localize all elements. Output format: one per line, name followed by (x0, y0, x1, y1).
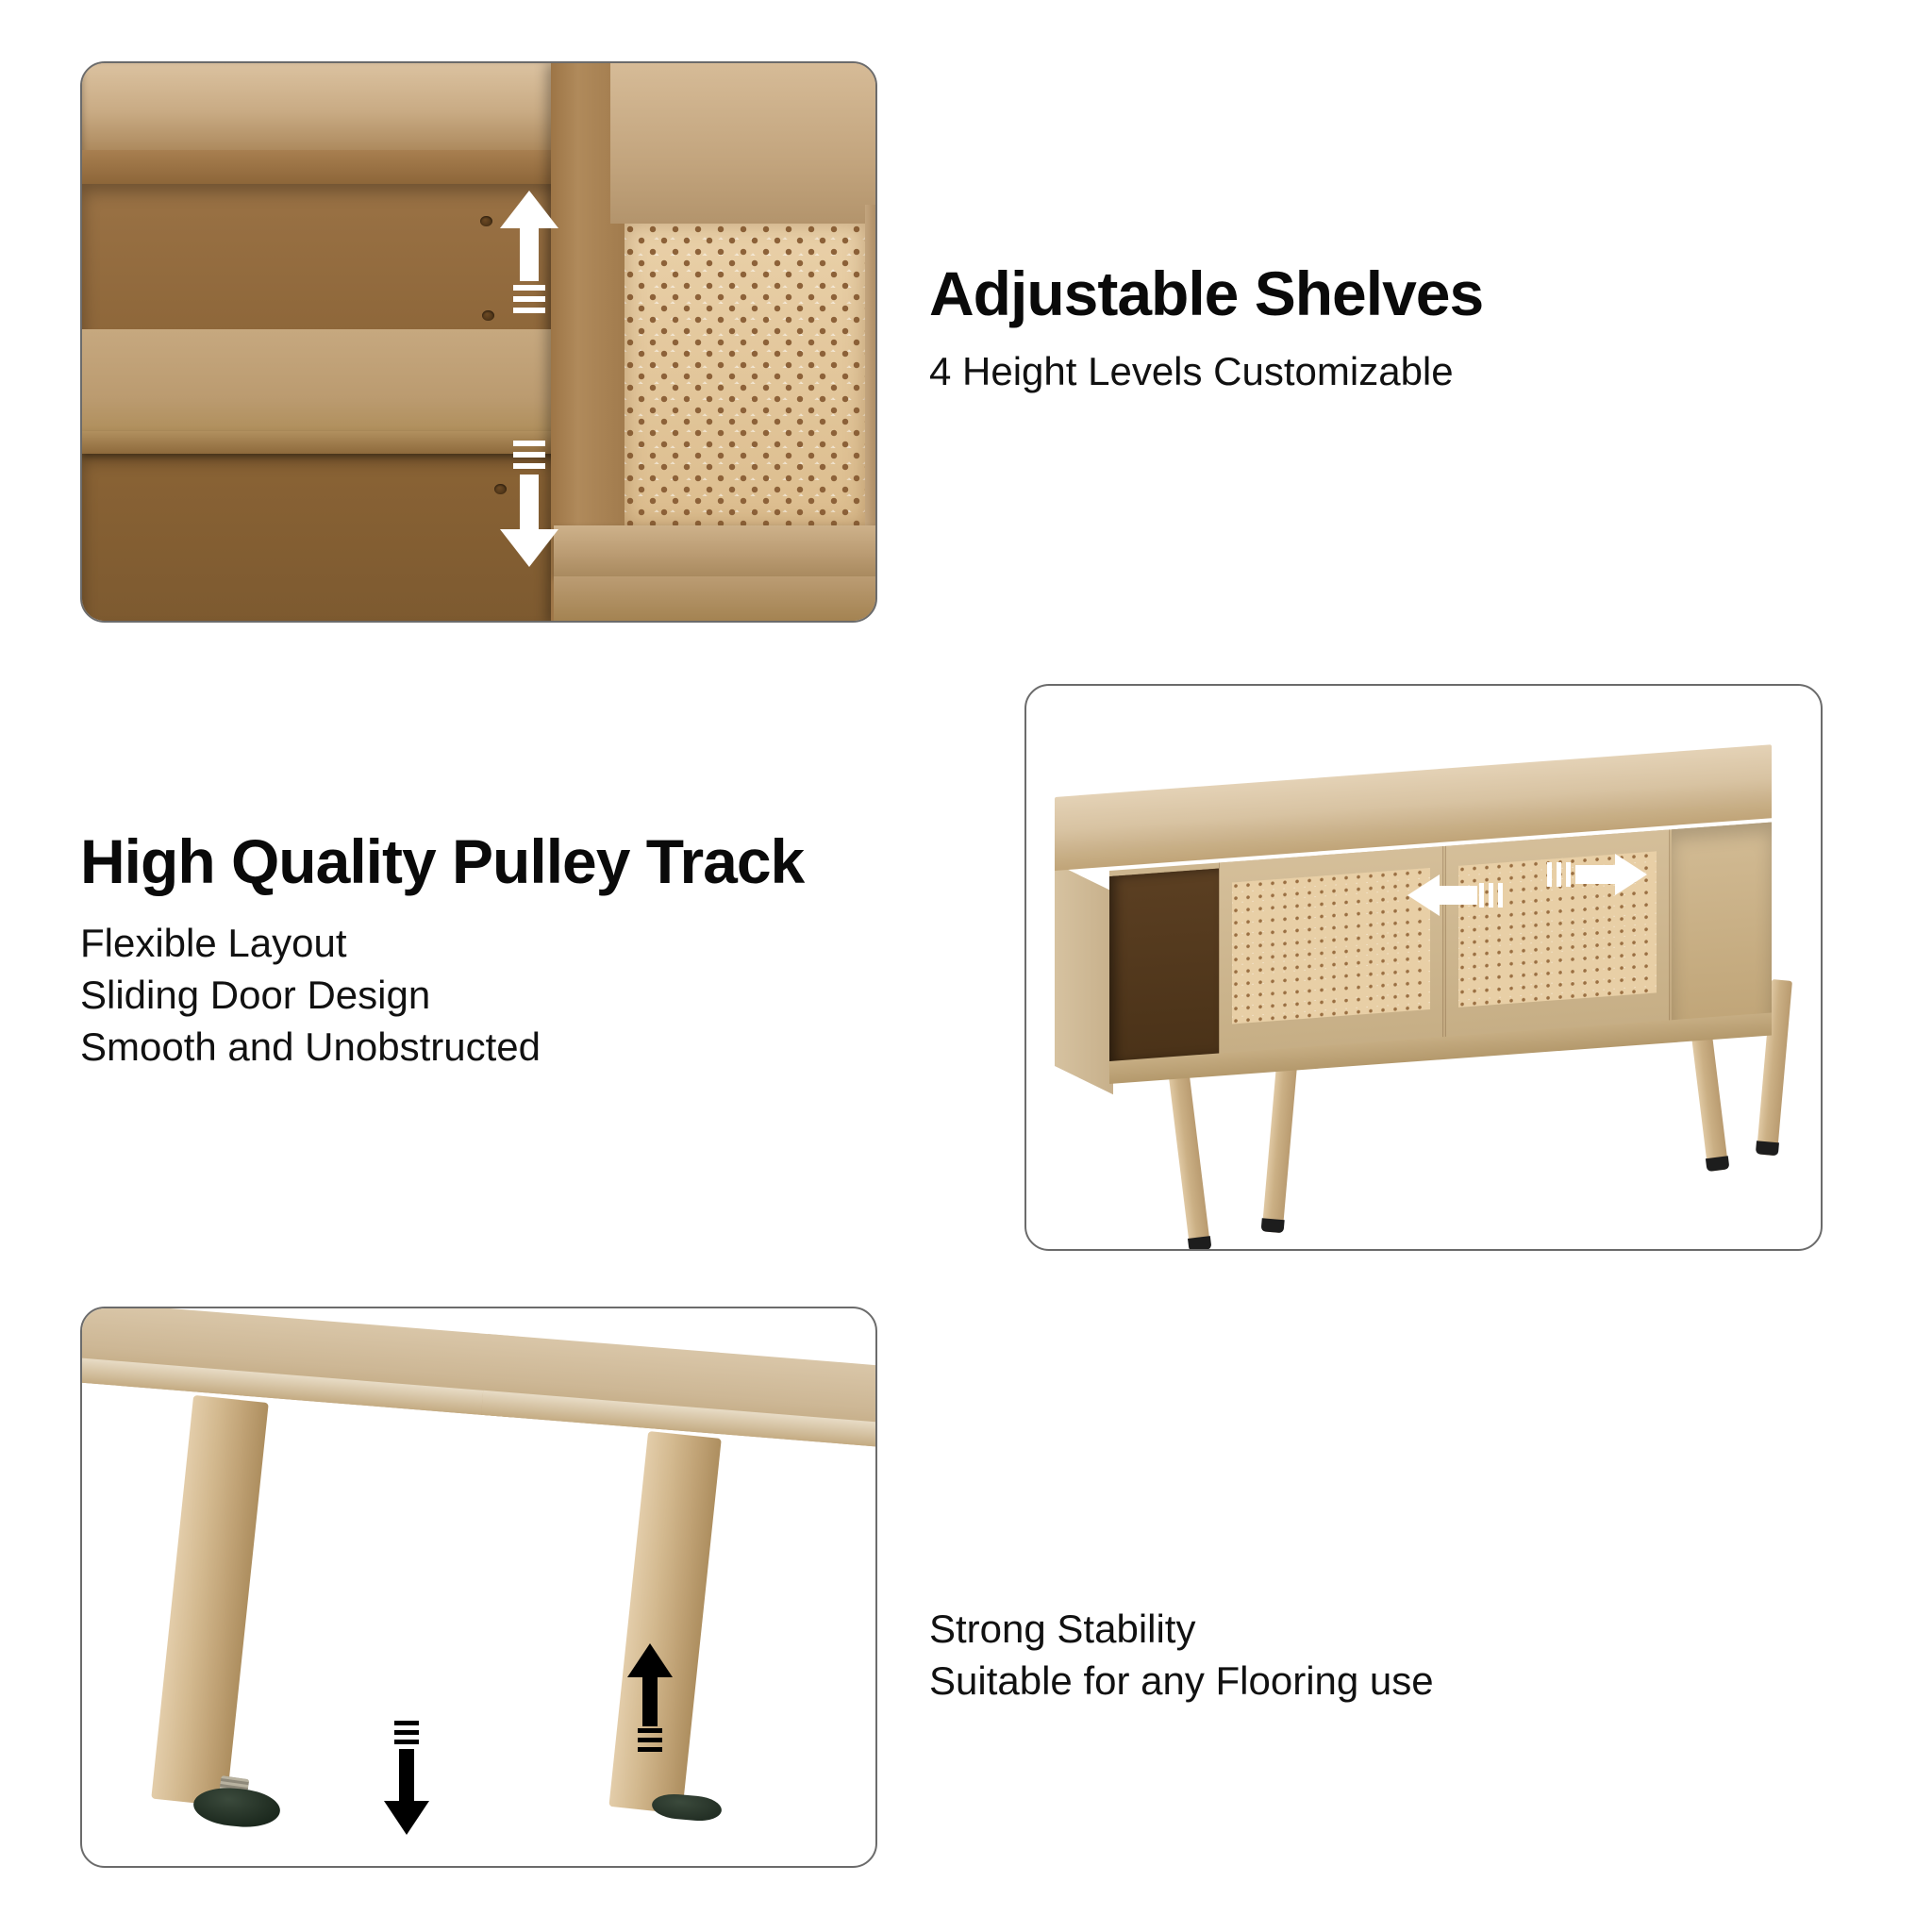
leg-foot-cap (651, 1792, 723, 1823)
section-1-headline: Adjustable Shelves (929, 262, 1483, 325)
rattan-door-right-frame (865, 205, 877, 535)
arrow-left-icon (1407, 874, 1507, 916)
adjustable-shelf-board (82, 329, 563, 454)
section-adjustable-shelves-text: Adjustable Shelves 4 Height Levels Custo… (929, 262, 1483, 398)
stand-leg-front-left (1166, 1053, 1210, 1251)
cabinet-bottom-rail (554, 525, 877, 576)
infographic-canvas: Adjustable Shelves 4 Height Levels Custo… (0, 0, 1932, 1932)
cabinet-top-board (82, 63, 606, 184)
tapered-leg-left (151, 1395, 269, 1807)
legs-closeup-photo (80, 1307, 877, 1868)
arrow-up-icon (500, 191, 558, 318)
cabinet-base-apron (554, 576, 877, 623)
section-2-subline-2: Sliding Door Design (80, 970, 804, 1022)
section-pulley-track-text: High Quality Pulley Track Flexible Layou… (80, 830, 804, 1073)
cabinet-upper-compartment (82, 184, 554, 346)
section-2-headline: High Quality Pulley Track (80, 830, 804, 893)
tv-stand-photo-content (1026, 686, 1823, 1251)
legs-photo-content (82, 1308, 875, 1866)
section-3-subline-2: Suitable for any Flooring use (929, 1656, 1434, 1707)
section-2-subline-1: Flexible Layout (80, 918, 804, 970)
rattan-weave-panel (625, 224, 865, 525)
arrow-right-icon (1547, 854, 1647, 895)
arrow-up-icon (627, 1643, 673, 1759)
arrow-down-icon (384, 1721, 429, 1837)
cabinet-underside-rail-left (80, 1307, 518, 1417)
stand-left-side-panel (1055, 863, 1113, 1094)
section-3-subline-1: Strong Stability (929, 1604, 1434, 1656)
section-strong-stability-text: Strong Stability Suitable for any Floori… (929, 1604, 1434, 1707)
adjustable-levelling-foot (192, 1785, 281, 1830)
cabinet-underside-rail-right (481, 1334, 877, 1448)
cabinet-lower-compartment (82, 454, 573, 623)
shelf-peg-hole (480, 216, 492, 226)
section-1-subline-1: 4 Height Levels Customizable (929, 346, 1483, 398)
section-2-subline-3: Smooth and Unobstructed (80, 1022, 804, 1074)
rattan-weave-panel (1232, 868, 1430, 1024)
stand-open-shelf-left (1109, 868, 1221, 1065)
shelf-closeup-photo (80, 61, 877, 623)
rattan-door-top-frame (610, 63, 877, 224)
shelf-peg-hole (482, 310, 494, 321)
tv-stand-photo (1024, 684, 1823, 1251)
shelf-photo-content (82, 63, 875, 621)
stand-open-shelf-right (1672, 822, 1772, 1027)
arrow-down-icon (500, 441, 558, 568)
